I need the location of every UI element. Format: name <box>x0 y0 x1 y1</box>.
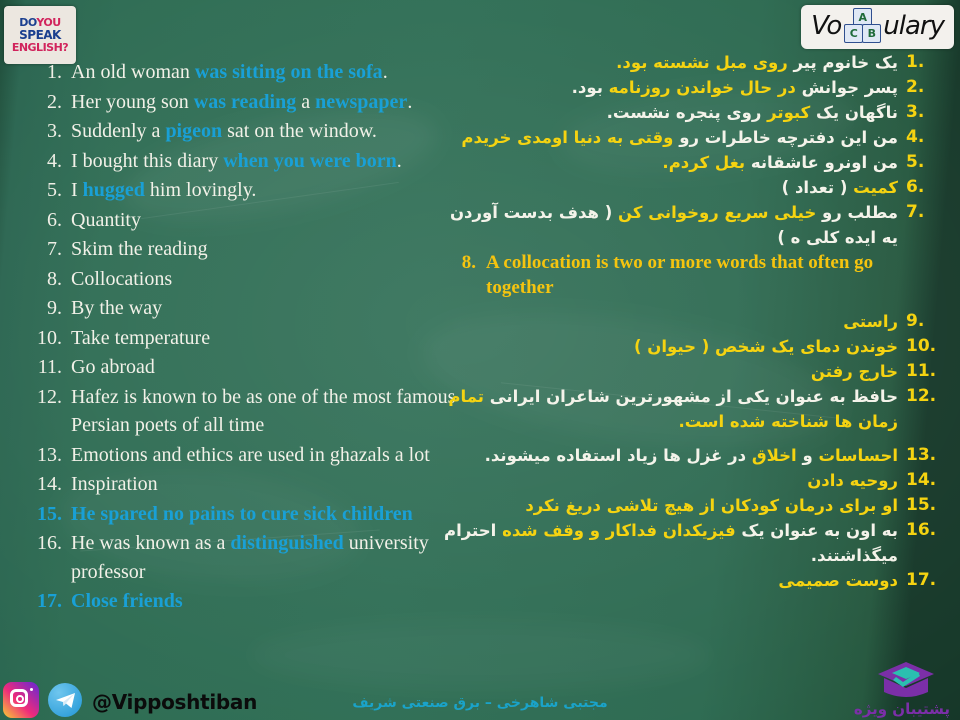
english-list-item: 9.By the way <box>28 294 458 323</box>
highlighted-phrase: خیلی سریع روخوانی کن <box>618 203 816 222</box>
english-list: 1.An old woman was sitting on the sofa.2… <box>28 58 458 617</box>
plain-text: An old woman <box>71 61 195 83</box>
list-item-number: 11. <box>28 353 71 382</box>
plain-text: بود. <box>572 78 609 97</box>
highlighted-phrase: احساسات <box>818 446 898 465</box>
list-item-text: او برای درمان کودکان از هیچ تلاشی دریغ ن… <box>442 493 898 518</box>
highlighted-phrase: hugged <box>83 179 145 201</box>
plain-text: Take temperature <box>71 327 210 349</box>
list-item-text: پسر جوانش در حال خواندن روزنامه بود. <box>442 75 898 100</box>
list-item-number: 12. <box>28 383 71 412</box>
list-item-text: حافظ به عنوان یکی از مشهورترین شاعران ای… <box>442 384 898 434</box>
highlighted-phrase: دوست صمیمی <box>778 571 898 590</box>
list-item-number: 9. <box>898 309 942 334</box>
logo-text-english: ENGLISH? <box>12 42 68 53</box>
list-item-number: 1. <box>898 50 942 75</box>
list-item-number: 16. <box>898 518 942 543</box>
list-item-number: 5. <box>28 176 71 205</box>
persian-list-item: 3.ناگهان یک کبوتر روی پنجره نشست. <box>442 100 942 125</box>
persian-list-item: 10.خوندن دمای یک شخص ( حیوان ) <box>442 334 942 359</box>
plain-text: من اونرو عاشقانه <box>745 153 898 172</box>
plain-text: روی پنجره نشست. <box>607 103 767 122</box>
list-item-number: 12. <box>898 384 942 409</box>
english-list-item: 1.An old woman was sitting on the sofa. <box>28 58 458 87</box>
list-item-number: 9. <box>28 294 71 323</box>
plain-text: ناگهان یک <box>810 103 898 122</box>
highlighted-phrase: وقتی به دنیا اومدی خریدم <box>461 128 673 147</box>
plain-text: ( تعداد ) <box>782 178 853 197</box>
plain-text: Collocations <box>71 268 172 290</box>
english-list-item: 17.Close friends <box>28 587 458 616</box>
list-item-text: من این دفترچه خاطرات رو وقتی به دنیا اوم… <box>442 125 898 150</box>
list-item-number: 10. <box>898 334 942 359</box>
list-item-number: 15. <box>898 493 942 518</box>
highlighted-phrase: pigeon <box>165 120 222 142</box>
persian-list-item: 11.خارج رفتن <box>442 359 942 384</box>
block-c: C <box>844 24 863 43</box>
plain-text: حافظ به عنوان یکی از مشهورترین شاعران ای… <box>484 387 898 406</box>
plain-text: Go abroad <box>71 356 155 378</box>
persian-list-item: 1.یک خانوم پیر روی مبل نشسته بود. <box>442 50 942 75</box>
chalkboard: DOYOU SPEAK ENGLISH? Vo A C B ulary 1.An… <box>0 0 960 720</box>
english-list-item: 11.Go abroad <box>28 353 458 382</box>
plain-text: . <box>397 150 402 172</box>
highlighted-phrase: was reading <box>194 91 296 113</box>
highlighted-phrase: راستی <box>843 312 898 331</box>
list-item-text: روحیه دادن <box>442 468 898 493</box>
list-item-number: 11. <box>898 359 942 384</box>
highlighted-phrase: when you were born <box>223 150 397 172</box>
list-item-text: Close friends <box>71 587 183 616</box>
english-list-item: 12.Hafez is known to be as one of the mo… <box>28 383 458 440</box>
list-item-number: 17. <box>898 568 942 593</box>
persian-list-item: 6.کمیت ( تعداد ) <box>442 175 942 200</box>
list-item-text: Skim the reading <box>71 235 208 264</box>
list-item-number: 14. <box>28 470 71 499</box>
list-item-text: مطلب رو خیلی سریع روخوانی کن ( هدف بدست … <box>442 200 898 250</box>
list-item-text: He spared no pains to cure sick children <box>71 500 413 529</box>
highlighted-phrase: خارج رفتن <box>811 362 898 381</box>
list-item-text: خوندن دمای یک شخص ( حیوان ) <box>442 334 898 359</box>
english-list-item: 14.Inspiration <box>28 470 458 499</box>
english-list-item: 15.He spared no pains to cure sick child… <box>28 500 458 529</box>
list-item-text: An old woman was sitting on the sofa. <box>71 58 388 87</box>
highlighted-phrase: Close friends <box>71 590 183 612</box>
footer: @Vipposhtiban مجتبی شاهرخی – برق صنعتی ش… <box>0 664 960 720</box>
highlighted-phrase: He spared no pains to cure sick children <box>71 503 413 525</box>
list-item-text: By the way <box>71 294 162 323</box>
list-item-number: 4. <box>898 125 942 150</box>
plain-text: . <box>383 61 388 83</box>
list-item-text: A collocation is two or more words that … <box>486 250 942 300</box>
list-item-number: 8. <box>28 265 71 294</box>
persian-list-item: 2.پسر جوانش در حال خواندن روزنامه بود. <box>442 75 942 100</box>
list-item-number: 2. <box>898 75 942 100</box>
list-item-number: 3. <box>898 100 942 125</box>
list-item-text: He was known as a distinguished universi… <box>71 529 458 586</box>
english-list-item: 7.Skim the reading <box>28 235 458 264</box>
plain-text: به اون به عنوان یک <box>736 521 898 540</box>
english-list-item: 6.Quantity <box>28 206 458 235</box>
plain-text: . <box>407 91 412 113</box>
english-list-item: 2.Her young son was reading a newspaper. <box>28 88 458 117</box>
list-spacer <box>442 434 942 443</box>
plain-text: By the way <box>71 297 162 319</box>
list-item-text: Go abroad <box>71 353 155 382</box>
list-item-text: Inspiration <box>71 470 158 499</box>
list-item-number: 7. <box>898 200 942 225</box>
highlighted-phrase: اخلاق <box>752 446 797 465</box>
logo-text-speak: SPEAK <box>12 29 68 41</box>
list-item-text: راستی <box>442 309 898 334</box>
logo-word: پشتیبان ویژه <box>854 700 950 718</box>
persian-list-item: 16.به اون به عنوان یک فیزیکدان فداکار و … <box>442 518 942 568</box>
graduation-cap-icon <box>876 660 936 700</box>
list-item-number: 6. <box>898 175 942 200</box>
english-list-item: 13.Emotions and ethics are used in ghaza… <box>28 441 458 470</box>
list-item-number: 6. <box>28 206 71 235</box>
plain-text: و <box>797 446 819 465</box>
block-b: B <box>862 24 881 43</box>
plain-text: I <box>71 179 83 201</box>
plain-text: I bought this diary <box>71 150 223 172</box>
list-item-number: 7. <box>28 235 71 264</box>
plain-text: A collocation is two or more words that … <box>486 252 873 298</box>
english-list-item: 5.I hugged him lovingly. <box>28 176 458 205</box>
plain-text: Suddenly a <box>71 120 165 142</box>
list-item-number: 10. <box>28 324 71 353</box>
plain-text: Skim the reading <box>71 238 208 260</box>
list-item-text: به اون به عنوان یک فیزیکدان فداکار و وقف… <box>442 518 898 568</box>
vocab-suffix: ulary <box>883 11 944 41</box>
plain-text: sat on the window. <box>222 120 377 142</box>
author-credit: مجتبی شاهرخی – برق صنعتی شریف <box>0 695 960 711</box>
plain-text: him lovingly. <box>145 179 256 201</box>
plain-text: مطلب رو <box>816 203 898 222</box>
plain-text: Emotions and ethics are used in ghazals … <box>71 444 430 466</box>
list-item-text: Her young son was reading a newspaper. <box>71 88 412 117</box>
highlighted-phrase: distinguished <box>230 532 343 554</box>
persian-list-item: 9.راستی <box>442 309 942 334</box>
english-list-item: 3.Suddenly a pigeon sat on the window. <box>28 117 458 146</box>
list-item-number: 4. <box>28 147 71 176</box>
persian-list-item: 7.مطلب رو خیلی سریع روخوانی کن ( هدف بدس… <box>442 200 942 250</box>
persian-list-item: 15.او برای درمان کودکان از هیچ تلاشی دری… <box>442 493 942 518</box>
list-item-number: 16. <box>28 529 71 558</box>
plain-text: Her young son <box>71 91 194 113</box>
persian-list-item: 12.حافظ به عنوان یکی از مشهورترین شاعران… <box>442 384 942 434</box>
highlighted-phrase: او برای درمان کودکان از هیچ تلاشی دریغ ن… <box>525 496 898 515</box>
persian-list-item: 4.من این دفترچه خاطرات رو وقتی به دنیا ا… <box>442 125 942 150</box>
list-item-text: Hafez is known to be as one of the most … <box>71 383 458 440</box>
highlighted-phrase: newspaper <box>315 91 407 113</box>
plain-text: a <box>296 91 315 113</box>
persian-list: 1.یک خانوم پیر روی مبل نشسته بود.2.پسر ج… <box>442 50 942 593</box>
persian-list-item: 17.دوست صمیمی <box>442 568 942 593</box>
highlighted-phrase: خوندن دمای یک شخص ( حیوان ) <box>634 337 898 356</box>
highlighted-phrase: فیزیکدان فداکار و وقف شده <box>502 521 736 540</box>
plain-text: پسر جوانش <box>796 78 898 97</box>
english-list-item: 8.Collocations <box>28 265 458 294</box>
list-item-text: I hugged him lovingly. <box>71 176 256 205</box>
plain-text: در غزل ها زیاد استفاده میشوند. <box>485 446 752 465</box>
poshtiban-vijeh-logo: پشتیبان ویژه <box>856 660 952 718</box>
english-list-item: 16.He was known as a distinguished unive… <box>28 529 458 586</box>
plain-text: یک خانوم پیر <box>788 53 898 72</box>
list-item-number: 2. <box>28 88 71 117</box>
do-you-speak-english-logo: DOYOU SPEAK ENGLISH? <box>4 6 76 64</box>
plain-text: He was known as a <box>71 532 230 554</box>
plain-text: Inspiration <box>71 473 158 495</box>
list-item-text: من اونرو عاشقانه بغل کردم. <box>442 150 898 175</box>
list-item-text: Suddenly a pigeon sat on the window. <box>71 117 377 146</box>
list-item-text: خارج رفتن <box>442 359 898 384</box>
highlighted-phrase: کمیت <box>853 178 898 197</box>
list-item-text: I bought this diary when you were born. <box>71 147 402 176</box>
abc-blocks-icon: A C B <box>842 8 882 44</box>
list-item-number: 1. <box>28 58 71 87</box>
highlighted-phrase: کبوتر <box>767 103 810 122</box>
english-list-item: 10.Take temperature <box>28 324 458 353</box>
list-item-number: 8. <box>442 250 486 275</box>
list-item-text: Collocations <box>71 265 172 294</box>
list-item-number: 13. <box>28 441 71 470</box>
list-item-text: ناگهان یک کبوتر روی پنجره نشست. <box>442 100 898 125</box>
list-item-number: 3. <box>28 117 71 146</box>
list-item-text: کمیت ( تعداد ) <box>442 175 898 200</box>
highlighted-phrase: در حال خواندن روزنامه <box>609 78 796 97</box>
vocabulary-logo: Vo A C B ulary <box>801 5 954 49</box>
plain-text: Hafez is known to be as one of the most … <box>71 386 455 437</box>
highlighted-phrase: روحیه دادن <box>807 471 898 490</box>
list-item-text: دوست صمیمی <box>442 568 898 593</box>
list-item-text: احساسات و اخلاق در غزل ها زیاد استفاده م… <box>442 443 898 468</box>
persian-list-item: 5.من اونرو عاشقانه بغل کردم. <box>442 150 942 175</box>
list-item-text: Take temperature <box>71 324 210 353</box>
list-item-number: 5. <box>898 150 942 175</box>
highlighted-phrase: was sitting on the sofa <box>195 61 383 83</box>
english-list-item: 4.I bought this diary when you were born… <box>28 147 458 176</box>
list-item-number: 14. <box>898 468 942 493</box>
list-item-number: 13. <box>898 443 942 468</box>
highlighted-phrase: روی مبل نشسته بود. <box>616 53 788 72</box>
list-item-text: یک خانوم پیر روی مبل نشسته بود. <box>442 50 898 75</box>
list-item-number: 17. <box>28 587 71 616</box>
persian-list-item: 8.A collocation is two or more words tha… <box>442 250 942 300</box>
highlighted-phrase: بغل کردم. <box>662 153 745 172</box>
plain-text: من این دفترچه خاطرات رو <box>673 128 898 147</box>
vocab-prefix: Vo <box>811 11 841 41</box>
persian-list-item: 14.روحیه دادن <box>442 468 942 493</box>
list-item-number: 15. <box>28 500 71 529</box>
persian-list-item: 13.احساسات و اخلاق در غزل ها زیاد استفاد… <box>442 443 942 468</box>
list-spacer <box>442 300 942 309</box>
plain-text: Quantity <box>71 209 141 231</box>
list-item-text: Quantity <box>71 206 141 235</box>
list-item-text: Emotions and ethics are used in ghazals … <box>71 441 430 470</box>
